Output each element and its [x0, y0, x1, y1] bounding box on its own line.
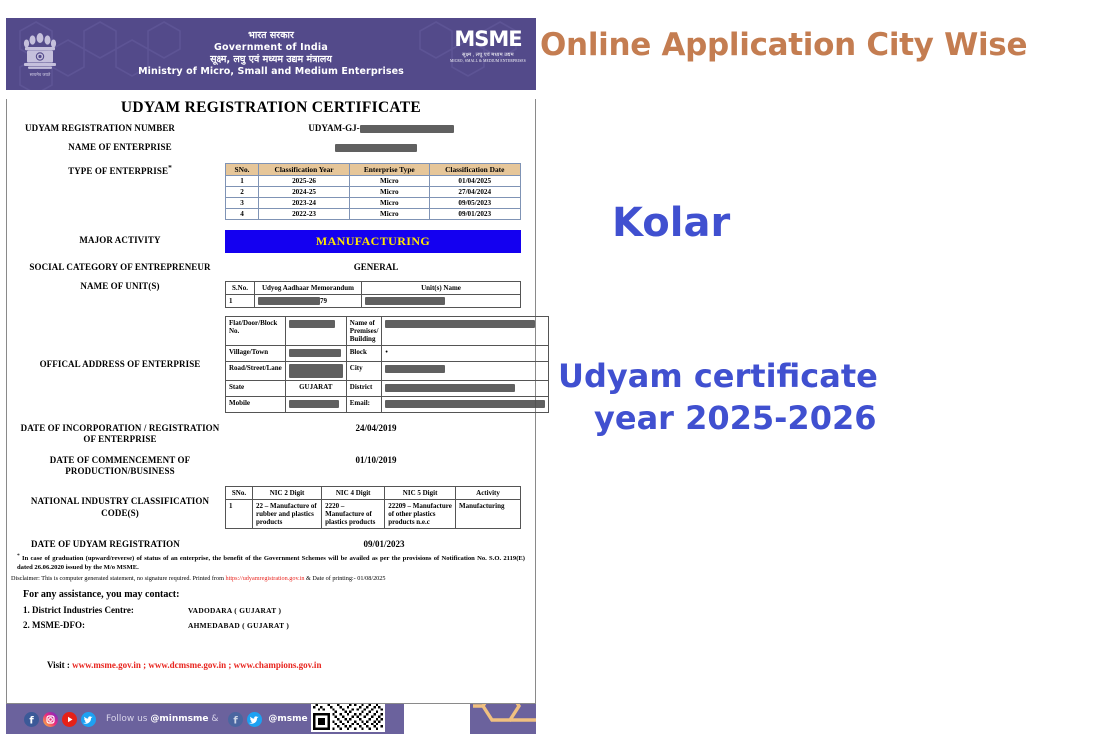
addr-key: Mobile [226, 397, 286, 413]
cell-type: Micro [350, 208, 429, 219]
table-header-row: SNo. Classification Year Enterprise Type… [226, 163, 521, 175]
cell-nic2: 22 – Manufacture of rubber and plastics … [253, 500, 322, 529]
certificate-header: सत्यमेव जयते भारत सरकार Government of In… [6, 18, 536, 90]
annotation-subtitle: Udyam certificate year 2025-2026 [558, 355, 1098, 439]
enterprise-name-label: NAME OF ENTERPRISE [15, 142, 225, 153]
table-row: Flat/Door/Block No. Name of Premises/ Bu… [226, 317, 549, 346]
col-unit-name: Unit(s) Name [362, 281, 521, 294]
assistance-heading: For any assistance, you may contact: [7, 583, 535, 600]
official-address-label: OFFICAL ADDRESS OF ENTERPRISE [15, 359, 225, 370]
addr-key: District [346, 381, 382, 397]
addr-value [382, 362, 549, 381]
type-of-enterprise-text: TYPE OF ENTERPRISE [68, 166, 168, 176]
amp-text: & [208, 714, 218, 724]
contact-label: 1. District Industries Centre: [23, 605, 188, 615]
disclaimer-prefix: Disclaimer: This is computer generated s… [11, 575, 226, 582]
ministry-titles: भारत सरकार Government of India सूक्ष्म, … [138, 30, 404, 79]
disclaimer: Disclaimer: This is computer generated s… [7, 573, 535, 583]
type-of-enterprise-label: TYPE OF ENTERPRISE* [15, 163, 225, 177]
msme-sub-hindi: सूक्ष्म , लघु एवं मध्यम उद्यम [450, 52, 526, 58]
certificate-footer: f Follow us @minmsme & f [6, 704, 536, 734]
addr-key: Village/Town [226, 346, 286, 362]
addr-value [382, 397, 549, 413]
table-row: 2 2024-25 Micro 27/04/2024 [226, 186, 521, 197]
disclaimer-suffix: & Date of printing:- 01/08/2025 [305, 575, 386, 582]
cell-nic5: 22209 – Manufacture of other plastics pr… [385, 500, 456, 529]
contact-label: 2. MSME-DFO: [23, 620, 188, 630]
table-row: 4 2022-23 Micro 09/01/2023 [226, 208, 521, 219]
cell-unit-name [362, 294, 521, 307]
addr-value [285, 397, 346, 413]
addr-key: Road/Street/Lane [226, 362, 286, 381]
table-row: Village/Town Block • [226, 346, 549, 362]
annotation-title: Online Application City Wise [540, 27, 1116, 63]
col-sno: SNo. [226, 487, 253, 500]
udyam-certificate: सत्यमेव जयते भारत सरकार Government of In… [6, 18, 536, 745]
cell-date: 09/01/2023 [429, 208, 521, 219]
table-row: State GUJARAT District [226, 381, 549, 397]
table-row: 1 79 [226, 294, 521, 307]
date-udyam-registration-value: 09/01/2023 [241, 539, 527, 549]
addr-key: Block [346, 346, 382, 362]
table-row: Road/Street/Lane City [226, 362, 549, 381]
cell-date: 09/05/2023 [429, 197, 521, 208]
asterisk-marker: * [168, 163, 172, 172]
registration-number-label: UDYAM REGISTRATION NUMBER [15, 123, 235, 134]
msme-wordmark: MSME [450, 30, 526, 50]
addr-value [382, 381, 549, 397]
facebook-icon[interactable]: f [24, 712, 39, 727]
col-nic4: NIC 4 Digit [322, 487, 385, 500]
cell-year: 2022-23 [259, 208, 350, 219]
major-activity-banner: MANUFACTURING [225, 230, 521, 253]
date-commencement-label: DATE OF COMMENCEMENT OF PRODUCTION/BUSIN… [15, 455, 225, 478]
cell-uam: 79 [255, 294, 362, 307]
uam-suffix: 79 [320, 297, 327, 305]
cell-year: 2023-24 [259, 197, 350, 208]
col-nic2: NIC 2 Digit [253, 487, 322, 500]
table-row: 1 22 – Manufacture of rubber and plastic… [226, 500, 521, 529]
contact-value: VADODARA ( GUJARAT ) [188, 605, 281, 615]
addr-key: Flat/Door/Block No. [226, 317, 286, 346]
contact-value: AHMEDABAD ( GUJARAT ) [188, 620, 289, 630]
col-activity: Activity [456, 487, 521, 500]
date-incorporation-label: DATE OF INCORPORATION / REGISTRATION OF … [15, 423, 225, 446]
major-activity-label: MAJOR ACTIVITY [15, 235, 225, 246]
addr-key: Email: [346, 397, 382, 413]
name-of-units-label: NAME OF UNIT(S) [15, 281, 225, 292]
cell-sno: 1 [226, 294, 255, 307]
msme-handle-wrap: @msme [268, 714, 307, 724]
cell-year: 2025-26 [259, 175, 350, 186]
addr-value [285, 362, 346, 381]
twitter-icon[interactable] [81, 712, 96, 727]
msme-sub-english: MICRO, SMALL & MEDIUM ENTERPRISES [450, 59, 526, 63]
date-incorporation-value: 24/04/2019 [225, 423, 527, 433]
facebook-icon-2[interactable]: f [228, 712, 243, 727]
gov-hindi: भारत सरकार [138, 30, 404, 42]
page-title: UDYAM REGISTRATION CERTIFICATE [7, 99, 535, 117]
classification-table: SNo. Classification Year Enterprise Type… [225, 163, 521, 220]
col-uam: Udyog Aadhaar Memorandum [255, 281, 362, 294]
table-row: Mobile Email: [226, 397, 549, 413]
cell-sno: 1 [226, 500, 253, 529]
annotation-city: Kolar [612, 200, 730, 246]
annotation-subtitle-line1: Udyam certificate [558, 355, 1098, 397]
certificate-body: UDYAM REGISTRATION CERTIFICATE UDYAM REG… [6, 99, 536, 704]
cell-nic4: 2220 – Manufacture of plastics products [322, 500, 385, 529]
msme-logo: MSME सूक्ष्म , लघु एवं मध्यम उद्यम MICRO… [450, 30, 526, 63]
enterprise-name-value [225, 142, 527, 152]
contact-row: 2. MSME-DFO: AHMEDABAD ( GUJARAT ) [7, 615, 535, 630]
visit-links[interactable]: www.msme.gov.in ; www.dcmsme.gov.in ; ww… [72, 660, 321, 670]
col-classification-date: Classification Date [429, 163, 521, 175]
screenshot-root: सत्यमेव जयते भारत सरकार Government of In… [0, 0, 1116, 753]
national-emblem-icon: सत्यमेव जयते [18, 24, 62, 84]
cell-year: 2024-25 [259, 186, 350, 197]
cell-sno: 3 [226, 197, 259, 208]
addr-value: GUJARAT [285, 381, 346, 397]
addr-value [285, 346, 346, 362]
msme-handle[interactable]: @msme [268, 714, 307, 724]
registration-number-text: UDYAM-GJ- [308, 123, 359, 133]
instagram-icon[interactable] [43, 712, 58, 727]
table-row: 1 2025-26 Micro 01/04/2025 [226, 175, 521, 186]
table-header-row: S.No. Udyog Aadhaar Memorandum Unit(s) N… [226, 281, 521, 294]
cell-date: 01/04/2025 [429, 175, 521, 186]
registration-number-value: UDYAM-GJ- [235, 123, 527, 133]
qr-code[interactable] [309, 704, 387, 734]
svg-text:f: f [29, 715, 34, 726]
youtube-icon[interactable] [62, 712, 77, 727]
social-category-label: SOCIAL CATEGORY OF ENTREPRENEUR [15, 262, 225, 273]
addr-key: Name of Premises/ Building [346, 317, 382, 346]
date-udyam-registration-label: DATE OF UDYAM REGISTRATION [15, 539, 241, 550]
follow-label: Follow us [106, 714, 150, 724]
visit-line: Visit : www.msme.gov.in ; www.dcmsme.gov… [7, 660, 535, 670]
addr-value: • [382, 346, 549, 362]
follow-text: Follow us @minmsme & [106, 714, 218, 724]
gov-english: Government of India [138, 42, 404, 54]
ministry-hindi: सूक्ष्म, लघु एवं मध्यम उद्यम मंत्रालय [138, 54, 404, 66]
units-table: S.No. Udyog Aadhaar Memorandum Unit(s) N… [225, 281, 521, 308]
addr-key: State [226, 381, 286, 397]
cell-type: Micro [350, 186, 429, 197]
col-classification-year: Classification Year [259, 163, 350, 175]
table-header-row: SNo. NIC 2 Digit NIC 4 Digit NIC 5 Digit… [226, 487, 521, 500]
addr-key: City [346, 362, 382, 381]
col-nic5: NIC 5 Digit [385, 487, 456, 500]
cell-type: Micro [350, 175, 429, 186]
social-category-value: GENERAL [225, 262, 527, 272]
addr-value [382, 317, 549, 346]
ministry-english: Ministry of Micro, Small and Medium Ente… [138, 66, 404, 78]
cell-type: Micro [350, 197, 429, 208]
footnote-text: In case of graduation (upward/reverse) o… [17, 556, 525, 572]
visit-prefix: Visit : [47, 660, 72, 670]
col-enterprise-type: Enterprise Type [350, 163, 429, 175]
nic-label: NATIONAL INDUSTRY CLASSIFICATION CODE(S) [15, 496, 225, 519]
graduation-footnote: * In case of graduation (upward/reverse)… [7, 550, 535, 573]
col-sno: SNo. [226, 163, 259, 175]
cell-sno: 4 [226, 208, 259, 219]
date-commencement-value: 01/10/2019 [225, 455, 527, 465]
twitter-icon-2[interactable] [247, 712, 262, 727]
cell-sno: 1 [226, 175, 259, 186]
footer-white-box [401, 704, 473, 734]
nic-table: SNo. NIC 2 Digit NIC 4 Digit NIC 5 Digit… [225, 486, 521, 529]
table-row: 3 2023-24 Micro 09/05/2023 [226, 197, 521, 208]
annotation-panel: Online Application City Wise Kolar Udyam… [540, 0, 1116, 753]
minmsme-handle[interactable]: @minmsme [150, 714, 208, 724]
contact-row: 1. District Industries Centre: VADODARA … [7, 600, 535, 615]
addr-value [285, 317, 346, 346]
annotation-subtitle-line2: year 2025-2026 [558, 397, 1098, 439]
social-links: f Follow us @minmsme & f [6, 712, 314, 727]
col-sno: S.No. [226, 281, 255, 294]
cell-date: 27/04/2024 [429, 186, 521, 197]
cell-activity: Manufacturing [456, 500, 521, 529]
cell-sno: 2 [226, 186, 259, 197]
svg-text:f: f [234, 715, 239, 726]
address-table: Flat/Door/Block No. Name of Premises/ Bu… [225, 316, 549, 413]
udyam-portal-link[interactable]: https://udyamregistration.gov.in [226, 575, 305, 582]
svg-text:सत्यमेव जयते: सत्यमेव जयते [30, 72, 51, 77]
